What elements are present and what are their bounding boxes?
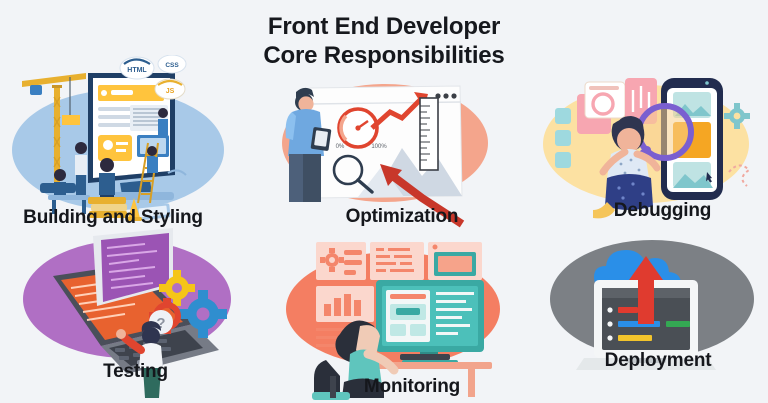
section-monitoring[interactable]: Monitoring: [272, 236, 520, 403]
title-line-1: Front End Developer: [0, 12, 768, 41]
badge-js-icon: JS: [155, 79, 185, 99]
infographic-canvas: Front End Developer Core Responsibilitie…: [0, 0, 768, 403]
building-and-styling-illustration: HTML CSS JS: [0, 55, 250, 230]
section-building-and-styling[interactable]: HTML CSS JS Building and Styling: [0, 55, 250, 230]
worker-avatar-3: [54, 169, 66, 198]
ruler-icon: [420, 98, 438, 170]
svg-text:HTML: HTML: [127, 67, 147, 74]
section-deployment[interactable]: Deployment: [528, 232, 768, 403]
section-label-building-and-styling: Building and Styling: [0, 207, 238, 229]
section-optimization[interactable]: 0% 100%: [262, 66, 506, 236]
squiggle-decoration: [729, 165, 749, 186]
gear-icon: [724, 103, 750, 129]
section-debugging[interactable]: Debugging: [525, 60, 768, 230]
dashboard-card-icon-row: [316, 242, 482, 280]
svg-text:JS: JS: [166, 88, 175, 95]
section-label-testing: Testing: [13, 361, 258, 383]
badge-html-icon: HTML: [120, 57, 154, 79]
worker-avatar-4: [147, 146, 158, 173]
svg-text:100%: 100%: [371, 144, 387, 150]
worker-avatar-5: [158, 108, 168, 135]
badge-css-icon: CSS: [158, 55, 186, 73]
section-label-debugging: Debugging: [541, 200, 768, 222]
tile-card-icon-group: [555, 108, 571, 168]
monitor-icon: [376, 280, 484, 365]
deployment-illustration: [528, 232, 768, 403]
svg-text:0%: 0%: [336, 144, 345, 150]
section-label-deployment: Deployment: [538, 350, 768, 372]
section-label-optimization: Optimization: [280, 206, 524, 228]
worker-avatar-1: [75, 142, 87, 195]
section-label-monitoring: Monitoring: [288, 376, 536, 398]
svg-text:CSS: CSS: [165, 62, 179, 69]
section-testing[interactable]: ? Testing: [5, 228, 250, 403]
